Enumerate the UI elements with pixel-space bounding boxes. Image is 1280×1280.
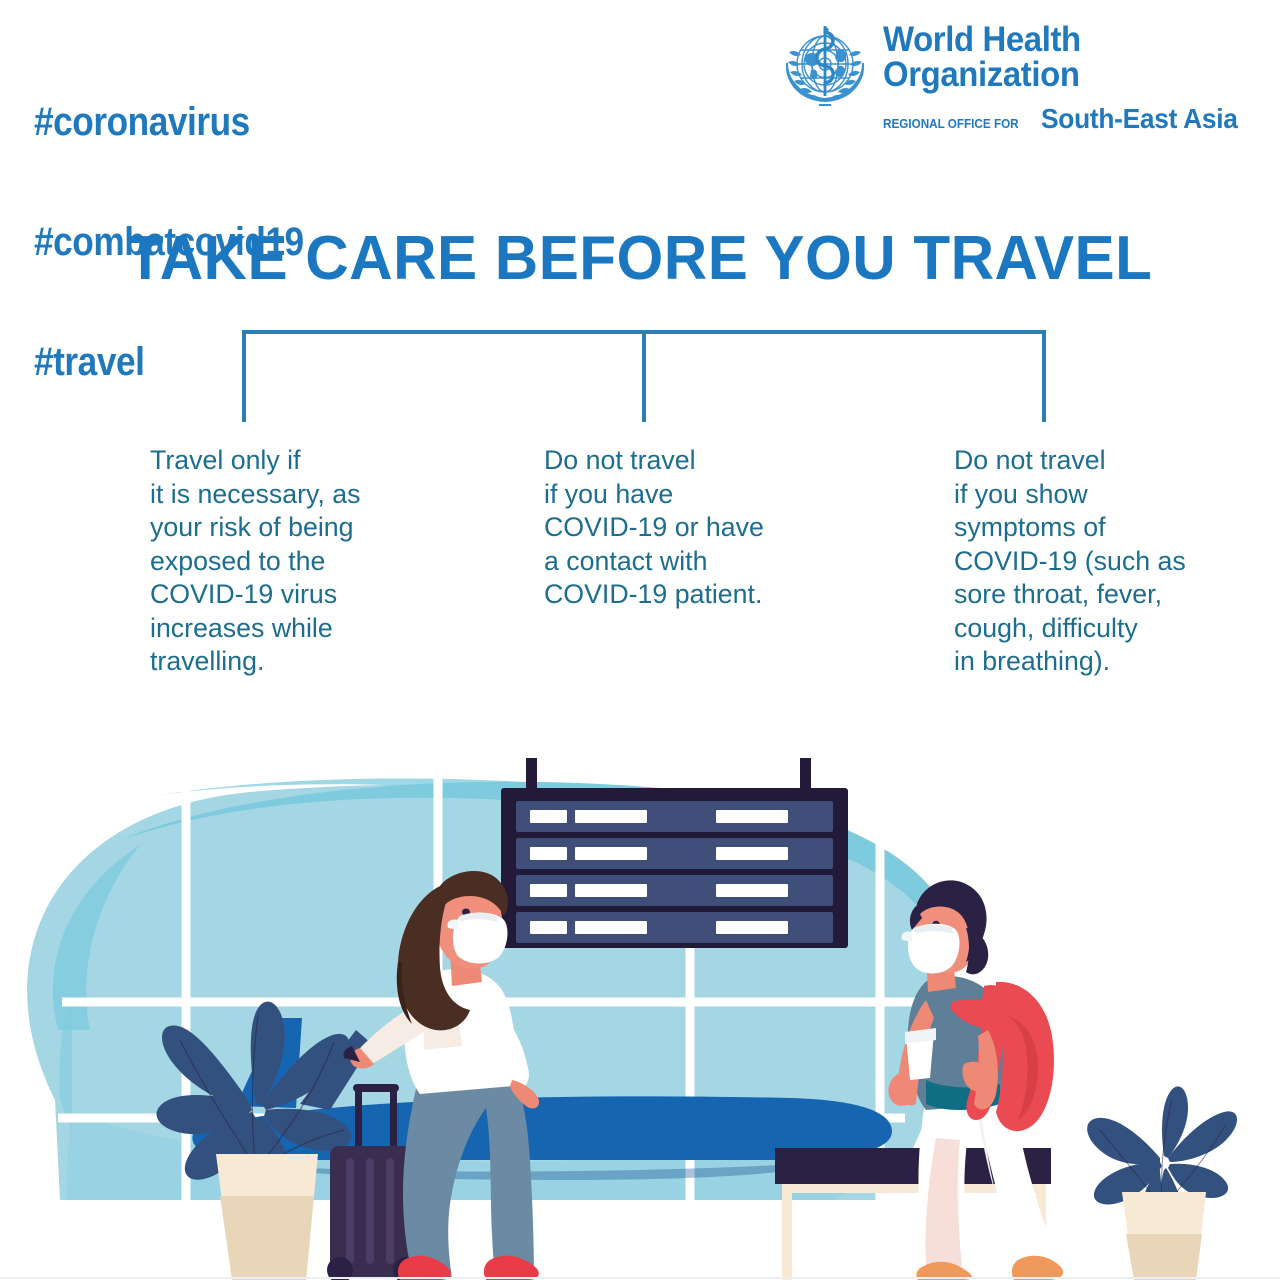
who-org-line2: Organization	[883, 57, 1228, 92]
bracket-connector	[236, 326, 1052, 426]
airport-departure-illustration	[0, 700, 1280, 1280]
who-regional-label: REGIONAL OFFICE FOR	[883, 116, 1019, 131]
hashtag-coronavirus: #coronavirus	[34, 102, 304, 142]
who-region-name: South-East Asia	[1041, 105, 1238, 133]
advice-text-1: Travel only if it is necessary, as your …	[150, 444, 360, 679]
who-org-line1: World Health	[883, 22, 1228, 57]
who-emblem-icon	[775, 18, 875, 122]
man-traveller	[888, 880, 1063, 1280]
advice-columns: Travel only if it is necessary, as your …	[0, 444, 1280, 694]
advice-text-2: Do not travel if you have COVID-19 or ha…	[544, 444, 764, 612]
advice-column-3: Do not travel if you show symptoms of CO…	[954, 444, 1229, 679]
page-title-text: TAKE CARE BEFORE YOU TRAVEL	[127, 228, 1153, 290]
advice-text-3: Do not travel if you show symptoms of CO…	[954, 444, 1186, 679]
advice-column-2: Do not travel if you have COVID-19 or ha…	[544, 444, 814, 612]
potted-plant-right	[1087, 1086, 1237, 1280]
page-title: TAKE CARE BEFORE YOU TRAVEL	[0, 228, 1280, 290]
infographic-poster: #coronavirus #combatcovid19 #travel	[0, 0, 1280, 1280]
who-logo: World Health Organization REGIONAL OFFIC…	[775, 18, 1250, 133]
advice-column-1: Travel only if it is necessary, as your …	[150, 444, 410, 679]
